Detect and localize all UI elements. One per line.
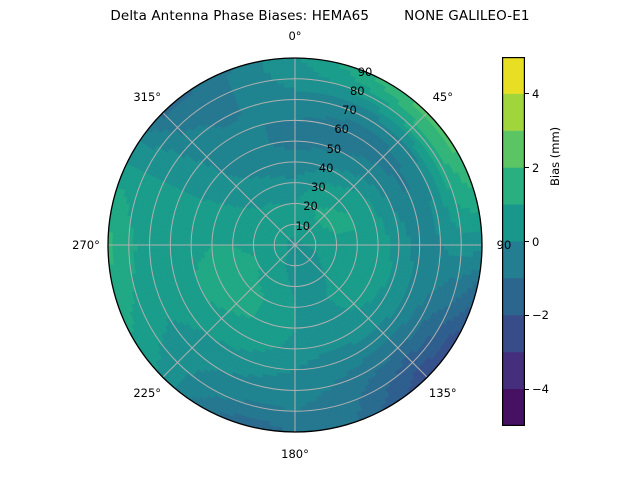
theta-tick-label-270: 270° xyxy=(72,238,100,252)
colorbar-tick-mark xyxy=(525,167,529,168)
colorbar-tick-label: 0 xyxy=(532,235,539,249)
r-tick-label-20: 20 xyxy=(303,199,318,213)
colorbar-tick-label: 4 xyxy=(532,87,539,101)
colorbar-tick-label: −4 xyxy=(532,382,549,396)
theta-tick-label-135: 135° xyxy=(429,386,457,400)
colorbar-band xyxy=(502,205,525,243)
colorbar-tick-mark xyxy=(525,241,529,242)
colorbar-tick-label: 2 xyxy=(532,161,539,175)
colorbar-tick-mark xyxy=(525,389,529,390)
colorbar-band xyxy=(502,168,525,206)
r-tick-label-30: 30 xyxy=(311,180,326,194)
theta-tick-label-0: 0° xyxy=(288,29,301,43)
colorbar-band xyxy=(502,57,525,95)
polar-grid xyxy=(108,58,482,432)
colorbar-band xyxy=(502,94,525,131)
colorbar-band xyxy=(502,131,525,169)
r-tick-label-90: 90 xyxy=(358,65,373,79)
r-tick-label-50: 50 xyxy=(327,142,342,156)
theta-tick-label-90: 90 xyxy=(497,238,512,252)
r-tick-label-70: 70 xyxy=(342,103,357,117)
theta-tick-label-180: 180° xyxy=(281,447,309,461)
colorbar-tick-mark xyxy=(525,93,529,94)
page-title: Delta Antenna Phase Biases: HEMA65 NONE … xyxy=(0,8,640,24)
r-tick-label-60: 60 xyxy=(334,122,349,136)
theta-tick-label-225: 225° xyxy=(133,386,161,400)
colorbar-band xyxy=(502,278,525,316)
colorbar-band xyxy=(502,315,525,353)
theta-tick-label-315: 315° xyxy=(133,90,161,104)
figure-canvas: Delta Antenna Phase Biases: HEMA65 NONE … xyxy=(0,0,640,480)
colorbar-tick-label: −2 xyxy=(532,308,549,322)
r-tick-label-40: 40 xyxy=(319,161,334,175)
r-tick-label-80: 80 xyxy=(350,84,365,98)
colorbar-axis-label: Bias (mm) xyxy=(548,127,562,186)
colorbar-tick-mark xyxy=(525,315,529,316)
polar-contour-svg xyxy=(104,54,486,436)
polar-plot xyxy=(104,54,486,436)
colorbar-band xyxy=(502,352,525,390)
r-tick-label-10: 10 xyxy=(295,219,310,233)
colorbar-band xyxy=(502,389,525,426)
theta-tick-label-45: 45° xyxy=(433,90,453,104)
